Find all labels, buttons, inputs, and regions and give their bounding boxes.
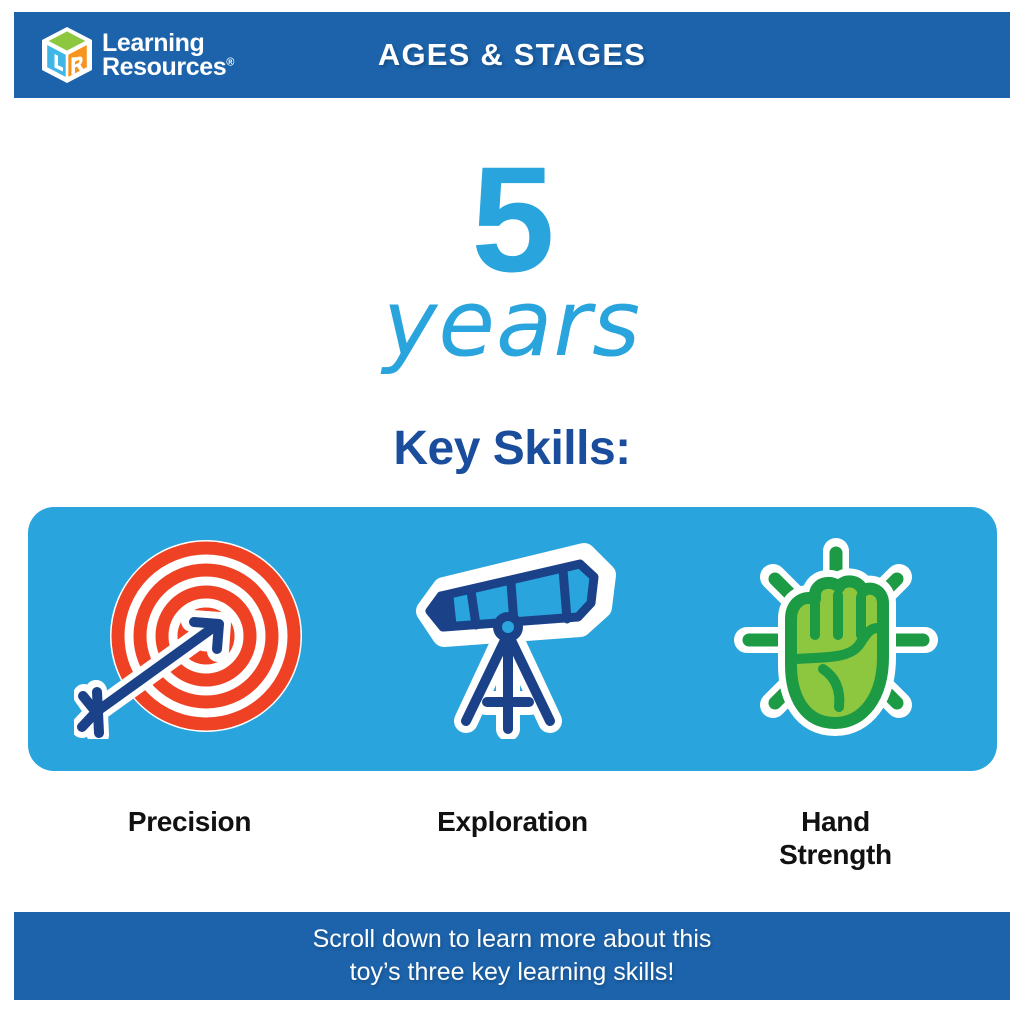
skill-label-precision: Precision [70,805,310,838]
page-title: AGES & STAGES [14,37,1010,73]
target-arrow-icon [74,539,306,739]
footer-bar: Scroll down to learn more about this toy… [14,912,1010,1000]
skill-label-hand-strength: Hand Strength [716,805,956,871]
skill-icon-precision[interactable] [70,529,310,749]
age-unit-label: years [0,278,1024,370]
skill-labels-row: Precision Exploration Hand Strength [28,805,997,900]
skill-icon-exploration[interactable] [393,529,633,749]
skill-label-exploration: Exploration [393,805,633,838]
footer-message-line2: toy’s three key learning skills! [350,958,675,986]
skill-label-hand-strength-line1: Hand [801,806,870,837]
key-skills-heading: Key Skills: [0,425,1024,473]
telescope-icon [408,539,618,739]
fist-strength-icon [731,537,941,742]
skill-icon-hand-strength[interactable] [716,529,956,749]
footer-message-line1: Scroll down to learn more about this [313,925,712,953]
skills-panel [28,507,997,771]
header-bar: Learning Resources® AGES & STAGES [14,12,1010,98]
skill-label-hand-strength-line2: Strength [779,839,892,870]
footer-message: Scroll down to learn more about this toy… [313,923,712,989]
